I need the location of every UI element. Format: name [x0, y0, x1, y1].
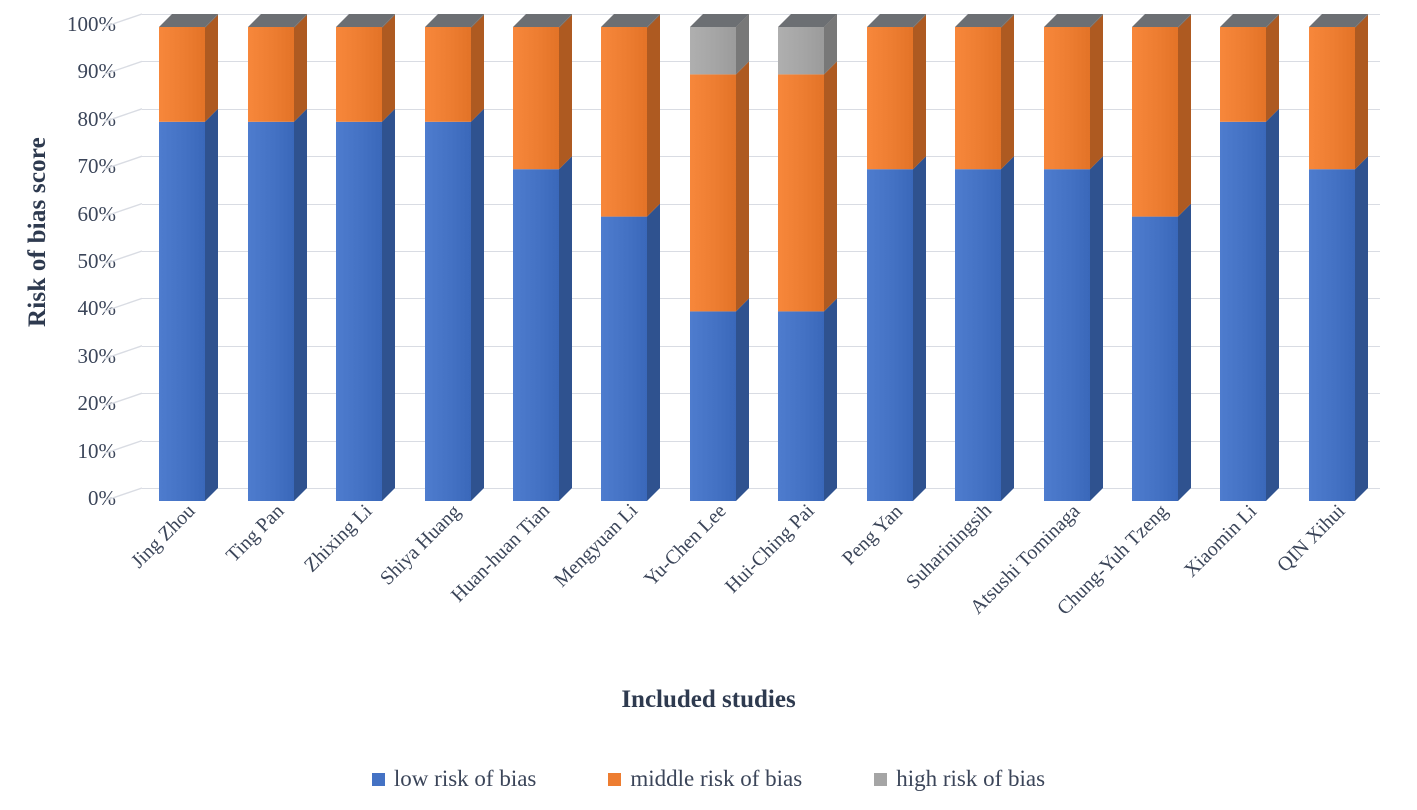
x-axis-tick-label: Peng Yan	[838, 500, 908, 570]
plot-area	[142, 14, 1380, 488]
bar-side-low-risk	[1178, 204, 1191, 501]
bar-front-middle-risk	[867, 27, 913, 169]
y-axis-tick-label: 60%	[44, 202, 116, 227]
y-axis-tick-label: 80%	[44, 107, 116, 132]
bar-front-low-risk	[425, 122, 471, 501]
bar-front-middle-risk	[1309, 27, 1355, 169]
bar-front-low-risk	[867, 169, 913, 501]
bar-front-high-risk	[690, 27, 736, 74]
legend-label: middle risk of bias	[630, 766, 802, 792]
x-axis-tick-label: Ting Pan	[222, 500, 289, 567]
bar-column[interactable]	[601, 14, 647, 488]
bar-side-low-risk	[294, 109, 307, 501]
bar-3d	[248, 14, 307, 501]
bar-column[interactable]	[248, 14, 294, 488]
y-axis-tick-label: 30%	[44, 344, 116, 369]
x-axis-tick-label: Mengyuan Li	[550, 500, 643, 593]
y-axis-tick-label: 70%	[44, 154, 116, 179]
bar-front-low-risk	[1132, 217, 1178, 501]
bar-front-middle-risk	[778, 74, 824, 311]
bar-front-middle-risk	[248, 27, 294, 122]
bar-side-low-risk	[382, 109, 395, 501]
bar-front-high-risk	[778, 27, 824, 74]
bar-column[interactable]	[867, 14, 913, 488]
x-axis-title: Included studies	[0, 686, 1417, 714]
bar-column[interactable]	[1220, 14, 1266, 488]
bar-3d	[425, 14, 484, 501]
legend-swatch-icon	[372, 773, 385, 786]
legend-item[interactable]: middle risk of bias	[608, 766, 802, 792]
x-axis-tick-labels: Jing ZhouTing PanZhixing LiShiya HuangHu…	[0, 498, 1417, 678]
y-axis-tick-label: 20%	[44, 391, 116, 416]
bar-column[interactable]	[513, 14, 559, 488]
bar-3d	[778, 14, 837, 501]
x-axis-tick-label: Xiaomin Li	[1180, 500, 1262, 582]
y-axis-tick-label: 100%	[44, 12, 116, 37]
y-axis-tick-label: 90%	[44, 59, 116, 84]
bar-front-middle-risk	[601, 27, 647, 217]
bar-side-middle-risk	[1001, 14, 1014, 169]
x-axis-tick-label: Suhariningsih	[902, 500, 997, 595]
bar-3d	[955, 14, 1014, 501]
bar-front-low-risk	[1044, 169, 1090, 501]
bar-side-low-risk	[1001, 156, 1014, 501]
bar-side-low-risk	[205, 109, 218, 501]
bar-3d	[1044, 14, 1103, 501]
bar-front-low-risk	[601, 217, 647, 501]
x-axis-tick-label: Shiya Huang	[376, 500, 466, 590]
legend-label: high risk of bias	[896, 766, 1045, 792]
bar-column[interactable]	[425, 14, 471, 488]
x-axis-tick-label: Hui-Ching Pai	[721, 500, 819, 598]
bar-front-low-risk	[248, 122, 294, 501]
bar-side-low-risk	[824, 298, 837, 501]
bar-side-middle-risk	[559, 14, 572, 169]
risk-of-bias-stacked-bar-chart: Risk of bias score 100%90%80%70%60%50%40…	[0, 0, 1417, 810]
bar-side-low-risk	[1266, 109, 1279, 501]
bar-side-middle-risk	[736, 61, 749, 311]
bar-side-middle-risk	[1355, 14, 1368, 169]
bar-3d	[1132, 14, 1191, 501]
bar-front-low-risk	[1220, 122, 1266, 501]
x-axis-tick-label: Jing Zhou	[127, 500, 200, 573]
bar-3d	[1309, 14, 1368, 501]
y-axis-tick-labels: 100%90%80%70%60%50%40%30%20%10%0%	[28, 0, 116, 490]
bar-front-middle-risk	[336, 27, 382, 122]
bar-3d	[336, 14, 395, 501]
bar-front-middle-risk	[1132, 27, 1178, 217]
bar-column[interactable]	[1132, 14, 1178, 488]
legend-item[interactable]: low risk of bias	[372, 766, 536, 792]
bar-side-low-risk	[471, 109, 484, 501]
bar-side-low-risk	[559, 156, 572, 501]
bar-front-low-risk	[513, 169, 559, 501]
bar-front-middle-risk	[159, 27, 205, 122]
bar-front-low-risk	[1309, 169, 1355, 501]
legend-item[interactable]: high risk of bias	[874, 766, 1045, 792]
bar-column[interactable]	[1309, 14, 1355, 488]
bar-series-container	[142, 14, 1380, 488]
y-axis-tick-label: 40%	[44, 296, 116, 321]
bar-side-middle-risk	[1266, 14, 1279, 122]
bar-side-middle-risk	[647, 14, 660, 217]
bar-front-low-risk	[778, 311, 824, 501]
legend-swatch-icon	[874, 773, 887, 786]
bar-front-low-risk	[159, 122, 205, 501]
bar-front-middle-risk	[425, 27, 471, 122]
x-axis-tick-label: QIN Xihui	[1273, 500, 1350, 577]
y-axis-tick-label: 10%	[44, 439, 116, 464]
legend-swatch-icon	[608, 773, 621, 786]
bar-front-low-risk	[955, 169, 1001, 501]
bar-front-low-risk	[690, 311, 736, 501]
legend-label: low risk of bias	[394, 766, 536, 792]
bar-side-middle-risk	[1178, 14, 1191, 217]
bar-column[interactable]	[159, 14, 205, 488]
bar-side-middle-risk	[913, 14, 926, 169]
bar-column[interactable]	[955, 14, 1001, 488]
bar-side-low-risk	[1355, 156, 1368, 501]
bar-side-low-risk	[647, 204, 660, 501]
x-axis-tick-label: Yu-Chen Lee	[640, 500, 731, 591]
bar-front-low-risk	[336, 122, 382, 501]
bar-3d	[1220, 14, 1279, 501]
gridline	[142, 488, 1380, 489]
bar-3d	[690, 14, 749, 501]
bar-3d	[601, 14, 660, 501]
bar-front-middle-risk	[955, 27, 1001, 169]
bar-side-middle-risk	[382, 14, 395, 122]
bar-side-middle-risk	[205, 14, 218, 122]
bar-column[interactable]	[1044, 14, 1090, 488]
bar-front-middle-risk	[1220, 27, 1266, 122]
bar-column[interactable]	[336, 14, 382, 488]
bar-column[interactable]	[690, 14, 736, 488]
bar-side-low-risk	[913, 156, 926, 501]
bar-front-middle-risk	[513, 27, 559, 169]
bar-3d	[513, 14, 572, 501]
bar-column[interactable]	[778, 14, 824, 488]
bar-front-middle-risk	[1044, 27, 1090, 169]
bar-side-middle-risk	[1090, 14, 1103, 169]
bar-3d	[867, 14, 926, 501]
bar-side-low-risk	[1090, 156, 1103, 501]
bar-side-middle-risk	[824, 61, 837, 311]
bar-3d	[159, 14, 218, 501]
bar-front-middle-risk	[690, 74, 736, 311]
bar-side-low-risk	[736, 298, 749, 501]
bar-side-middle-risk	[471, 14, 484, 122]
y-axis-tick-label: 50%	[44, 249, 116, 274]
x-axis-tick-label: Zhixing Li	[300, 500, 377, 577]
chart-legend: low risk of biasmiddle risk of biashigh …	[0, 766, 1417, 792]
bar-side-middle-risk	[294, 14, 307, 122]
